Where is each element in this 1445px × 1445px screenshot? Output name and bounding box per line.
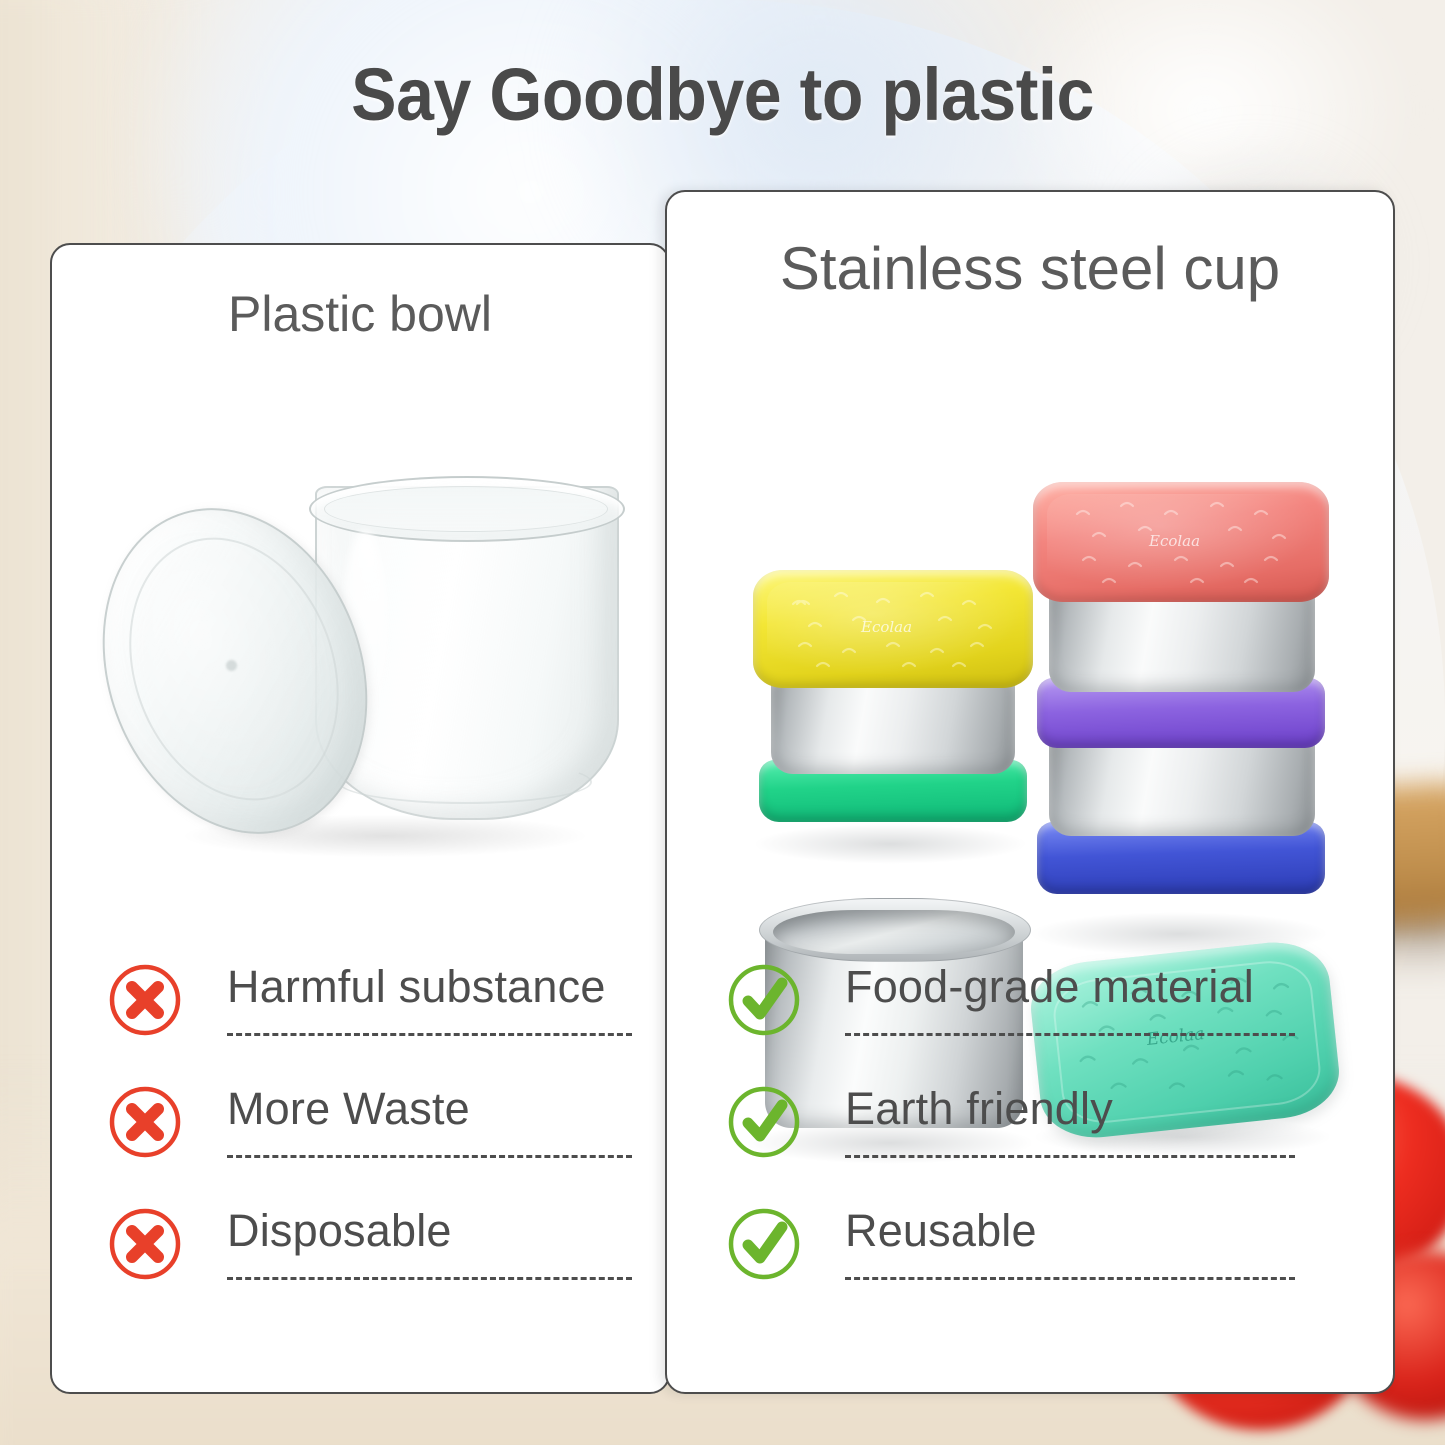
feature-underline bbox=[845, 1155, 1295, 1158]
feature-underline bbox=[227, 1033, 632, 1036]
feature-row: Disposable bbox=[52, 1201, 668, 1323]
open-container-cavity bbox=[773, 910, 1015, 954]
feature-label: More Waste bbox=[227, 1083, 470, 1135]
plastic-bowl-card: Plastic bowl Harmful substance bbox=[50, 243, 670, 1394]
check-circle-icon bbox=[727, 963, 801, 1037]
feature-row: Earth friendly bbox=[667, 1079, 1393, 1201]
stainless-steel-cup-card-heading: Stainless steel cup bbox=[667, 234, 1393, 303]
cross-circle-icon bbox=[108, 1207, 182, 1281]
plastic-deli-bowl-image bbox=[90, 460, 630, 880]
stainless-steel-container-set-image: Ecolaa bbox=[667, 332, 1393, 972]
feature-underline bbox=[227, 1277, 632, 1280]
plastic-bowl-rim-inner bbox=[324, 486, 608, 532]
stainless-steel-feature-list: Food-grade material Earth friendly Reusa… bbox=[667, 957, 1393, 1323]
feature-row: Reusable bbox=[667, 1201, 1393, 1323]
page-title: Say Goodbye to plastic bbox=[58, 52, 1387, 137]
feature-label: Reusable bbox=[845, 1205, 1037, 1257]
plastic-bowl-lid-dimple bbox=[226, 660, 237, 671]
feature-row: Harmful substance bbox=[52, 957, 668, 1079]
feature-row: More Waste bbox=[52, 1079, 668, 1201]
container-shadow bbox=[753, 824, 1028, 864]
lid-highlight bbox=[1047, 494, 1315, 588]
plastic-bowl-base-ring bbox=[338, 760, 592, 804]
feature-underline bbox=[227, 1155, 632, 1158]
feature-label: Disposable bbox=[227, 1205, 452, 1257]
check-circle-icon bbox=[727, 1207, 801, 1281]
check-circle-icon bbox=[727, 1085, 801, 1159]
lid-highlight bbox=[767, 582, 1019, 674]
feature-underline bbox=[845, 1277, 1295, 1280]
cross-circle-icon bbox=[108, 963, 182, 1037]
cross-circle-icon bbox=[108, 1085, 182, 1159]
plastic-bowl-card-heading: Plastic bowl bbox=[52, 285, 668, 343]
feature-underline bbox=[845, 1033, 1295, 1036]
feature-label: Earth friendly bbox=[845, 1083, 1113, 1135]
stainless-steel-cup-card: Stainless steel cup bbox=[665, 190, 1395, 1394]
feature-label: Harmful substance bbox=[227, 961, 606, 1013]
feature-row: Food-grade material bbox=[667, 957, 1393, 1079]
feature-label: Food-grade material bbox=[845, 961, 1254, 1013]
plastic-bowl-feature-list: Harmful substance More Waste Disposable bbox=[52, 957, 668, 1323]
